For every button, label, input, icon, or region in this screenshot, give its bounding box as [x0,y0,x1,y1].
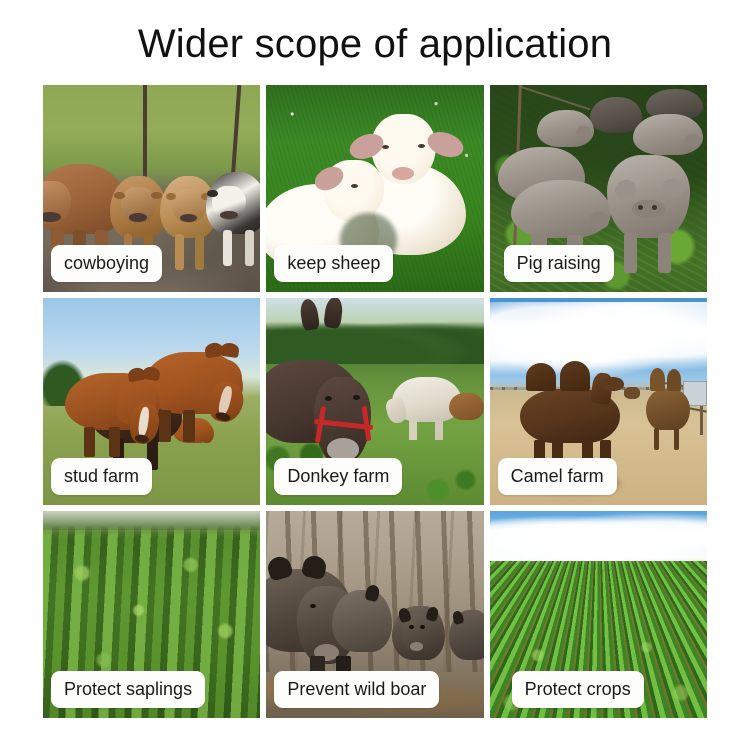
tile-keep-sheep[interactable]: keep sheep [266,85,483,292]
tile-caption: Protect saplings [51,671,205,708]
tile-caption: Pig raising [504,245,614,282]
tile-caption: Prevent wild boar [274,671,439,708]
tile-pig-raising[interactable]: Pig raising [490,85,707,292]
tile-stud-farm[interactable]: stud farm [43,298,260,505]
tile-protect-saplings[interactable]: Protect saplings [43,511,260,718]
tile-donkey-farm[interactable]: Donkey farm [266,298,483,505]
tile-prevent-wild-boar[interactable]: Prevent wild boar [266,511,483,718]
tile-protect-crops[interactable]: Protect crops [490,511,707,718]
application-grid: cowboying [43,85,707,718]
tile-cowboying[interactable]: cowboying [43,85,260,292]
tile-camel-farm[interactable]: Camel farm [490,298,707,505]
infographic-page: Wider scope of application [0,0,750,750]
tile-caption: keep sheep [274,245,393,282]
tile-caption: stud farm [51,458,152,495]
tile-caption: Protect crops [512,671,644,708]
tile-caption: cowboying [51,245,162,282]
tile-caption: Donkey farm [274,458,402,495]
tile-caption: Camel farm [498,458,617,495]
page-title: Wider scope of application [0,18,750,70]
